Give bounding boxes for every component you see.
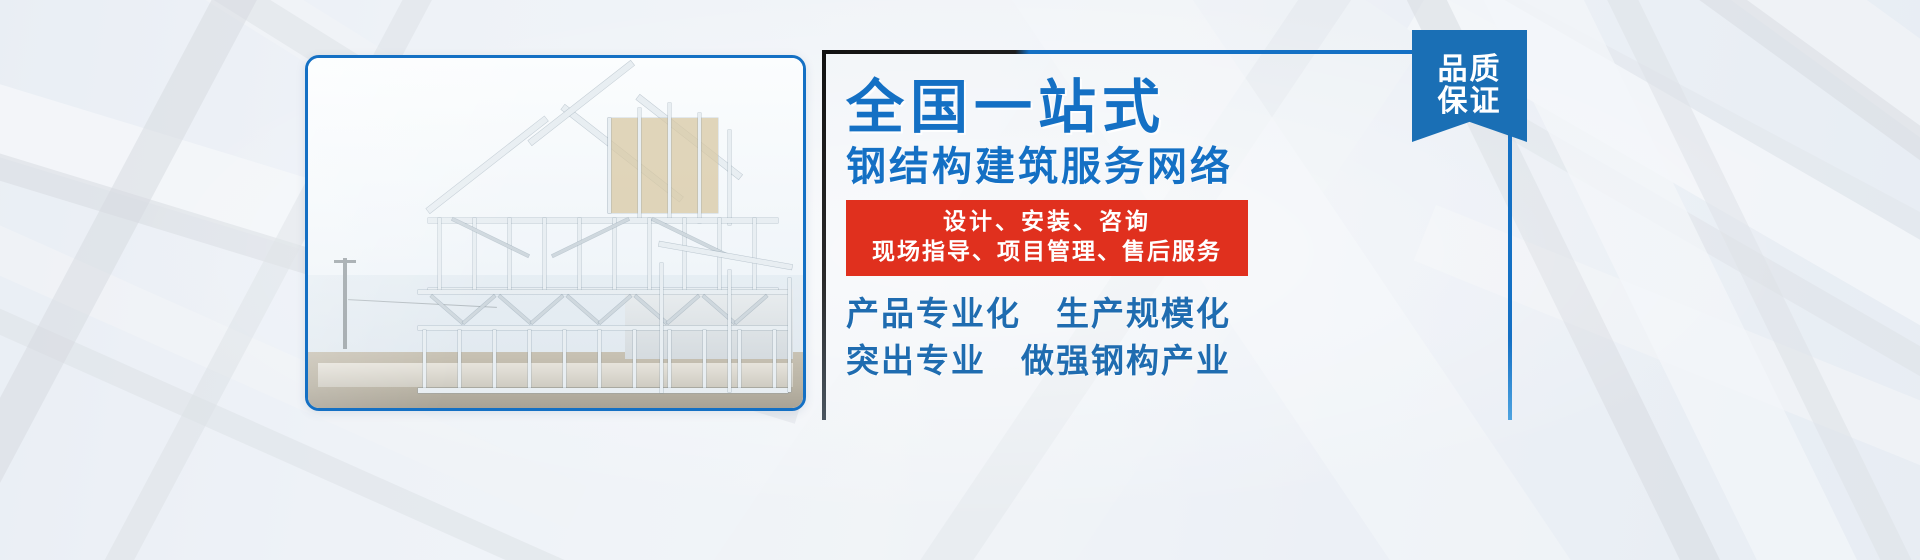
slogan-line-2: 突出专业 做强钢构产业	[846, 337, 1506, 385]
slogan-line-1: 产品专业化 生产规模化	[846, 290, 1506, 338]
banner-subheadline: 钢结构建筑服务网络	[846, 144, 1506, 190]
services-line-1: 设计、安装、咨询	[856, 207, 1238, 237]
steel-frame-house-photo	[308, 58, 803, 408]
hero-photo-card	[305, 55, 806, 411]
promo-banner: 品质 保证 全国一站式 钢结构建筑服务网络 设计、安装、咨询 现场指导、项目管理…	[0, 0, 1920, 560]
frame-left-border	[822, 50, 826, 420]
photo-sheen-overlay	[308, 58, 803, 408]
frame-top-border	[822, 50, 1512, 54]
services-red-banner: 设计、安装、咨询 现场指导、项目管理、售后服务	[846, 200, 1248, 276]
banner-headline: 全国一站式	[846, 76, 1506, 140]
services-line-2: 现场指导、项目管理、售后服务	[856, 237, 1238, 267]
banner-text-block: 全国一站式 钢结构建筑服务网络 设计、安装、咨询 现场指导、项目管理、售后服务 …	[846, 62, 1506, 385]
